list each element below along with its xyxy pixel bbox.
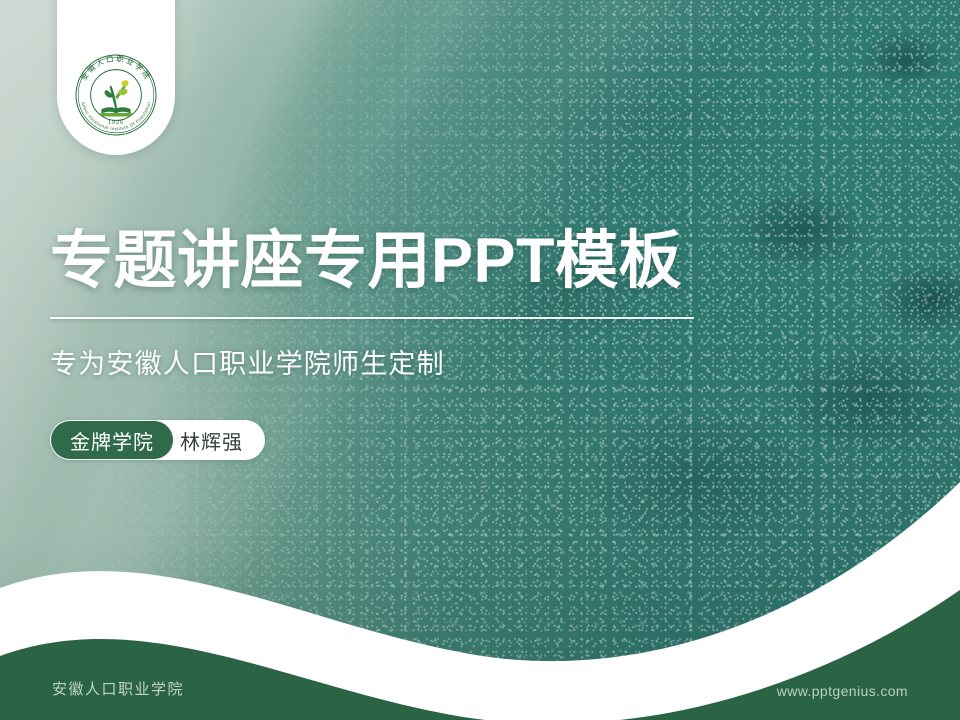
slide-main-title: 专题讲座专用PPT模板 bbox=[50, 228, 750, 295]
slide-subtitle: 专为安徽人口职业学院师生定制 bbox=[50, 342, 750, 381]
svg-text:安徽人口职业学院: 安徽人口职业学院 bbox=[79, 54, 153, 82]
category-badge: 金牌学院 bbox=[50, 420, 174, 460]
title-block: 专题讲座专用PPT模板 专为安徽人口职业学院师生定制 bbox=[50, 228, 750, 381]
logo-tab: 安徽人口职业学院 Anhui Vocational Institute Of P… bbox=[57, 0, 175, 155]
footer-website[interactable]: www.pptgenius.com bbox=[777, 683, 908, 699]
title-divider bbox=[50, 317, 694, 319]
svg-text:1926: 1926 bbox=[108, 120, 124, 126]
university-emblem-icon: 安徽人口职业学院 Anhui Vocational Institute Of P… bbox=[73, 52, 159, 138]
presentation-title-slide: 安徽人口职业学院 Anhui Vocational Institute Of P… bbox=[0, 0, 960, 720]
footer-institution: 安徽人口职业学院 bbox=[52, 678, 184, 699]
